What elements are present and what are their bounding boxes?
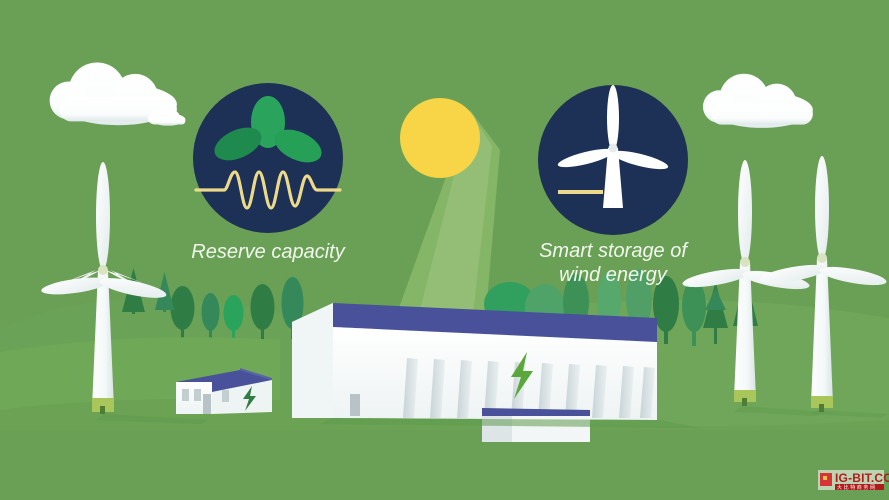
shed-window bbox=[182, 389, 189, 401]
turbine-footing bbox=[742, 398, 747, 406]
illustration-canvas: Reserve capacity Smart storage of wind e… bbox=[0, 0, 889, 500]
shed-door bbox=[203, 394, 211, 414]
site-watermark: IG-BIT.COM 大比特商务网 bbox=[818, 470, 889, 491]
badge-smart-storage[interactable]: Smart storage of wind energy bbox=[538, 85, 689, 286]
turbine-hub bbox=[817, 253, 827, 263]
shed-window bbox=[194, 389, 201, 401]
ground-foreground bbox=[0, 430, 889, 500]
scene-svg: Reserve capacity Smart storage of wind e… bbox=[0, 0, 889, 500]
warehouse-side-door bbox=[350, 394, 360, 416]
watermark-text: IG-BIT.COM bbox=[835, 471, 889, 485]
warehouse-gable-shade bbox=[292, 303, 333, 418]
sun bbox=[400, 98, 480, 178]
badge-caption-line2: wind energy bbox=[559, 264, 668, 286]
shed-window bbox=[222, 390, 229, 402]
turbine-hub bbox=[98, 265, 108, 275]
badge-caption: Reserve capacity bbox=[191, 241, 345, 263]
watermark-subtext: 大比特商务网 bbox=[837, 484, 877, 491]
turbine-hub bbox=[740, 257, 750, 267]
turbine-blade bbox=[815, 156, 829, 260]
turbine-footing bbox=[100, 406, 105, 414]
waveform-line bbox=[558, 190, 603, 194]
turbine-blade bbox=[96, 162, 110, 270]
turbine-blade bbox=[738, 160, 752, 264]
turbine-footing bbox=[819, 404, 824, 412]
badge-caption-line1: Smart storage of bbox=[539, 240, 689, 262]
